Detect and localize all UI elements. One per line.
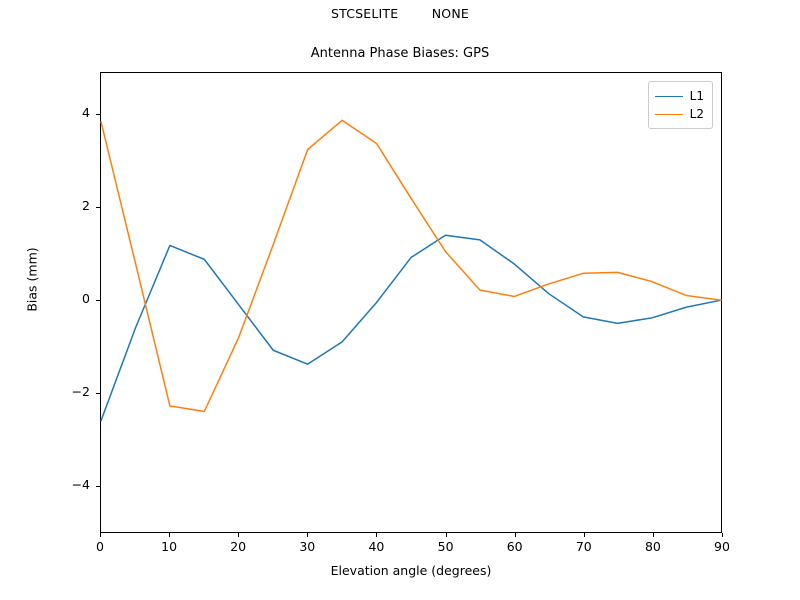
line-series-l1 (101, 235, 721, 420)
x-tick-label: 90 (700, 539, 744, 554)
legend-swatch-l2 (655, 114, 683, 115)
x-tick-label: 20 (216, 539, 260, 554)
x-tick-mark (100, 533, 101, 537)
x-tick-mark (515, 533, 516, 537)
x-tick-label: 70 (562, 539, 606, 554)
line-series-l2 (101, 120, 721, 411)
x-tick-label: 80 (631, 539, 675, 554)
x-tick-mark (169, 533, 170, 537)
legend-swatch-l1 (655, 96, 683, 97)
x-tick-label: 50 (424, 539, 468, 554)
y-tick-label: 2 (50, 198, 90, 213)
legend-item-l1: L1 (655, 87, 704, 105)
x-tick-label: 40 (354, 539, 398, 554)
axes-title: Antenna Phase Biases: GPS (0, 46, 800, 61)
x-tick-mark (307, 533, 308, 537)
legend-label-l2: L2 (690, 108, 704, 120)
legend-label-l1: L1 (690, 90, 704, 102)
x-tick-label: 30 (285, 539, 329, 554)
y-tick-mark (96, 486, 100, 487)
x-tick-mark (722, 533, 723, 537)
x-tick-label: 0 (78, 539, 122, 554)
figure: STCSELITE NONE Antenna Phase Biases: GPS… (0, 0, 800, 600)
legend: L1 L2 (648, 81, 713, 129)
y-tick-mark (96, 393, 100, 394)
plot-area: L1 L2 (100, 72, 722, 533)
y-tick-label: −2 (50, 384, 90, 399)
x-axis-label: Elevation angle (degrees) (100, 563, 722, 578)
x-tick-label: 10 (147, 539, 191, 554)
x-tick-label: 60 (493, 539, 537, 554)
series-canvas (101, 73, 721, 532)
y-axis-label: Bias (mm) (25, 190, 40, 370)
y-tick-label: 4 (50, 105, 90, 120)
x-tick-mark (653, 533, 654, 537)
x-tick-mark (376, 533, 377, 537)
x-tick-mark (238, 533, 239, 537)
x-tick-mark (584, 533, 585, 537)
y-tick-mark (96, 207, 100, 208)
figure-suptitle: STCSELITE NONE (0, 6, 800, 21)
y-tick-mark (96, 114, 100, 115)
y-tick-mark (96, 300, 100, 301)
x-tick-mark (446, 533, 447, 537)
legend-item-l2: L2 (655, 105, 704, 123)
y-tick-label: −4 (50, 477, 90, 492)
y-tick-label: 0 (50, 291, 90, 306)
